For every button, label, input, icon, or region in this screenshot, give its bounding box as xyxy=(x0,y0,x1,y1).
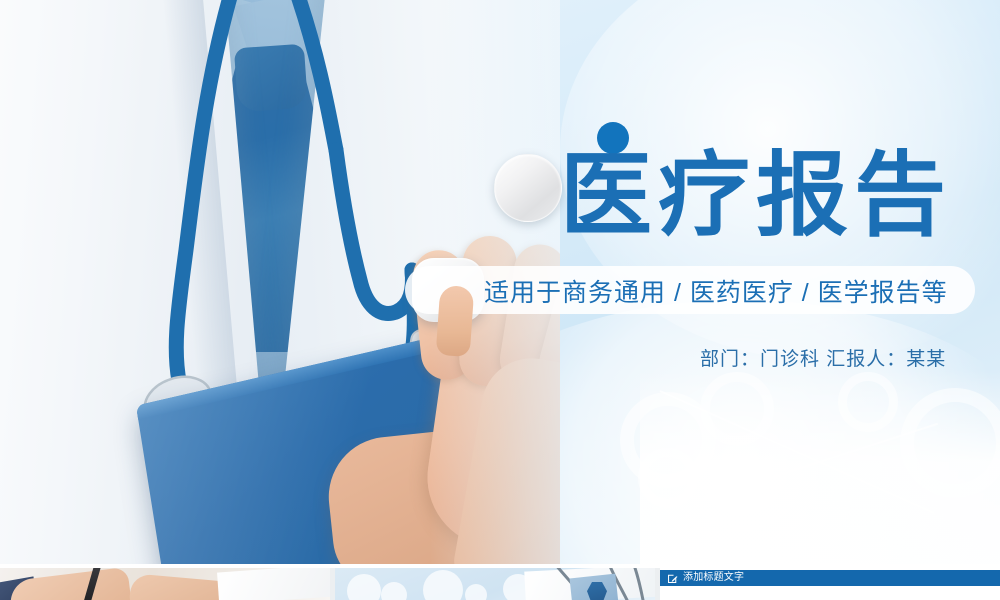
finger-overlapping-shape xyxy=(436,285,475,357)
page-title: 医疗报告 xyxy=(560,150,952,242)
background-glow-lower-right xyxy=(640,370,1000,564)
department-reporter-line: 部门：门诊科 汇报人：某某 xyxy=(700,344,946,371)
bokeh-circle xyxy=(347,574,381,600)
lab-coat xyxy=(217,568,330,600)
slide-root: 医疗报告 适用于商务通用 / 医药医疗 / 医学报告等 部门：门诊科 汇报人：某… xyxy=(0,0,1000,600)
thumbnail-slide-writing[interactable] xyxy=(0,568,330,600)
edit-pencil-icon xyxy=(667,573,678,584)
silver-circle-icon xyxy=(494,154,562,222)
add-title-bar[interactable]: 添加标题文字 xyxy=(660,570,1000,586)
add-title-bar-label: 添加标题文字 xyxy=(683,573,744,583)
thumbnail-slide-doctor[interactable] xyxy=(335,568,655,600)
thumbnail-slide-title-text[interactable]: 添加标题文字 xyxy=(660,568,1000,600)
bottom-thumbnail-strip: 添加标题文字 xyxy=(0,568,1000,600)
bokeh-circle xyxy=(423,570,463,600)
bokeh-circle xyxy=(381,582,407,600)
page-subtitle: 适用于商务通用 / 医药医疗 / 医学报告等 xyxy=(484,273,948,309)
hand xyxy=(8,568,132,600)
hero-slide: 医疗报告 适用于商务通用 / 医药医疗 / 医学报告等 部门：门诊科 汇报人：某… xyxy=(0,0,1000,564)
bokeh-circle xyxy=(465,584,487,600)
